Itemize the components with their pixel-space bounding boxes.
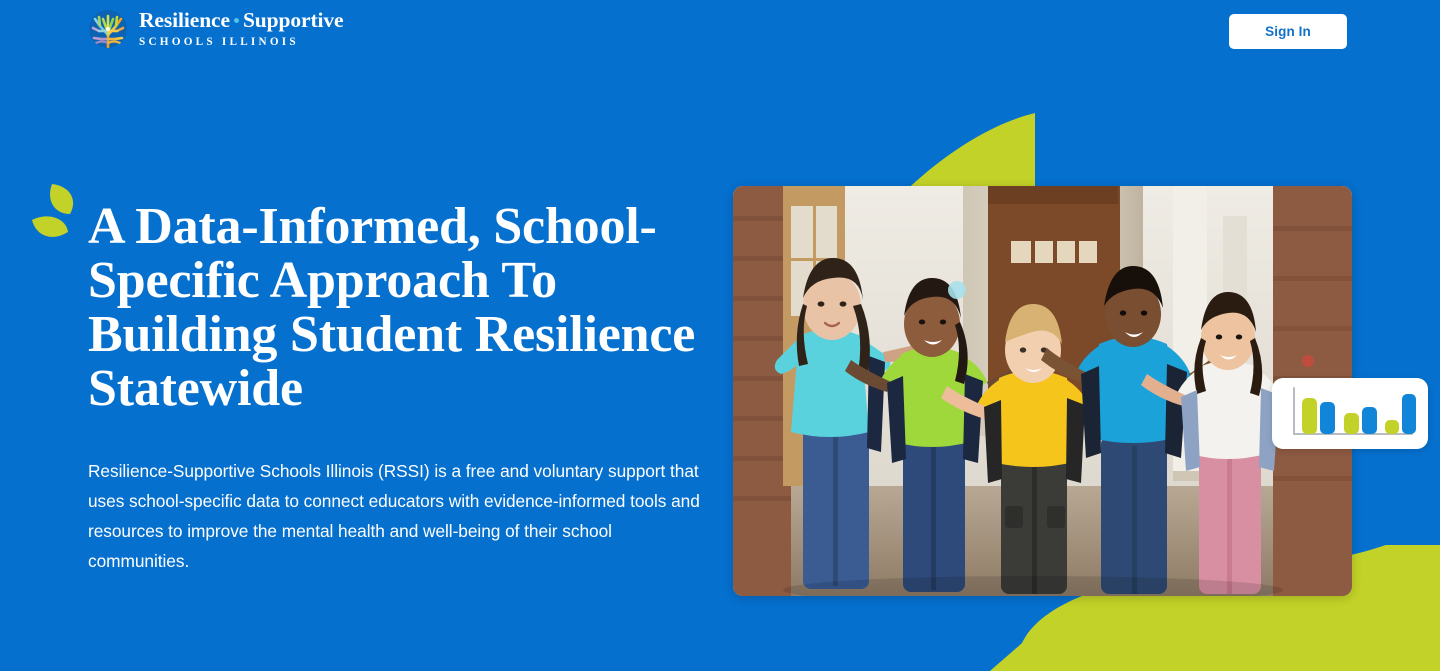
rssi-tree-logo-icon — [88, 9, 128, 49]
brand-title-part1: Resilience — [139, 8, 230, 32]
hero-description: Resilience-Supportive Schools Illinois (… — [88, 456, 708, 576]
brand-separator-dot — [234, 18, 239, 23]
students-photo-illustration — [733, 186, 1352, 596]
stats-chart-card[interactable] — [1272, 378, 1428, 449]
hero-text-block: A Data-Informed, School-Specific Approac… — [88, 200, 708, 576]
brand-logo[interactable]: ResilienceSupportive SCHOOLS ILLINOIS — [88, 9, 344, 49]
hero-photo — [733, 186, 1352, 596]
sign-in-button[interactable]: Sign In — [1229, 14, 1347, 49]
brand-subtitle: SCHOOLS ILLINOIS — [139, 37, 344, 48]
site-header: ResilienceSupportive SCHOOLS ILLINOIS Si… — [0, 0, 1440, 64]
brand-text: ResilienceSupportive SCHOOLS ILLINOIS — [139, 10, 344, 48]
brand-title-part2: Supportive — [243, 8, 344, 32]
bar-chart-icon — [1272, 378, 1428, 449]
page-title: A Data-Informed, School-Specific Approac… — [88, 200, 708, 416]
brand-title: ResilienceSupportive — [139, 10, 344, 32]
